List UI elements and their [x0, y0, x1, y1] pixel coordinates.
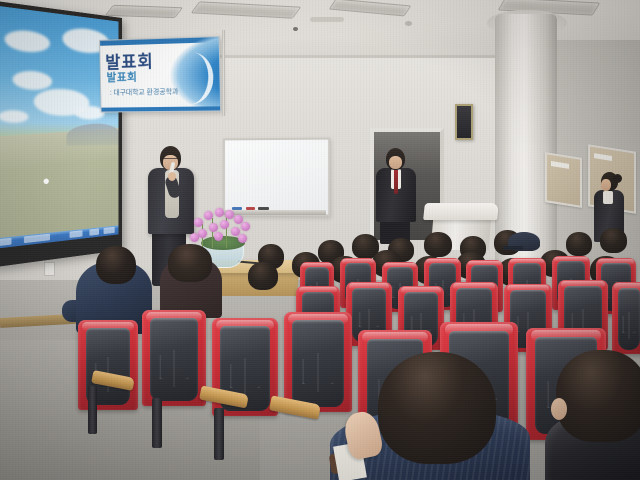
banner-organization: : 대구대학교 환경공학과 — [110, 87, 179, 98]
presenter-hand — [168, 172, 176, 181]
banner-pole — [222, 30, 225, 116]
auditorium-seat — [284, 312, 352, 412]
audience-head — [600, 228, 627, 253]
ceiling-duct — [310, 17, 344, 22]
slide-highlight — [43, 178, 48, 184]
foreground-person-head — [378, 352, 496, 464]
ceiling-sensor-icon — [405, 21, 412, 26]
cap-brim — [503, 246, 523, 250]
standing-woman-face — [601, 179, 611, 191]
ceiling-sensor-icon — [293, 27, 298, 31]
audience-head — [566, 232, 592, 256]
structural-column — [495, 14, 557, 264]
auditorium-seat — [78, 320, 138, 410]
audience-head — [248, 262, 278, 290]
photo-scene: 발표회 발표회 : 대구대학교 환경공학과 — [0, 0, 640, 480]
auditorium-seat — [142, 310, 206, 406]
lectern-top — [423, 203, 499, 220]
audience-head — [168, 244, 212, 282]
wall-speaker — [455, 104, 473, 140]
seat-leg — [88, 386, 97, 434]
suited-man-face — [389, 156, 402, 169]
banner-bottom-stripe — [101, 106, 220, 111]
seat-leg — [152, 398, 162, 448]
red-necktie — [394, 170, 398, 194]
banner-subtitle: 발표회 — [106, 69, 137, 85]
audience-head — [96, 246, 136, 284]
notice-board — [545, 152, 582, 208]
standing-woman-collar — [603, 191, 613, 204]
audience-head — [424, 232, 452, 257]
auditorium-seat — [612, 282, 640, 354]
foreground-person-head — [556, 350, 640, 442]
wall-outlet — [44, 262, 55, 276]
whiteboard — [223, 138, 330, 217]
ear — [551, 398, 567, 420]
event-banner: 발표회 발표회 : 대구대학교 환경공학과 — [99, 36, 221, 113]
seat-leg — [214, 408, 224, 460]
hair-bun — [613, 174, 622, 183]
slide-hill — [66, 123, 118, 146]
